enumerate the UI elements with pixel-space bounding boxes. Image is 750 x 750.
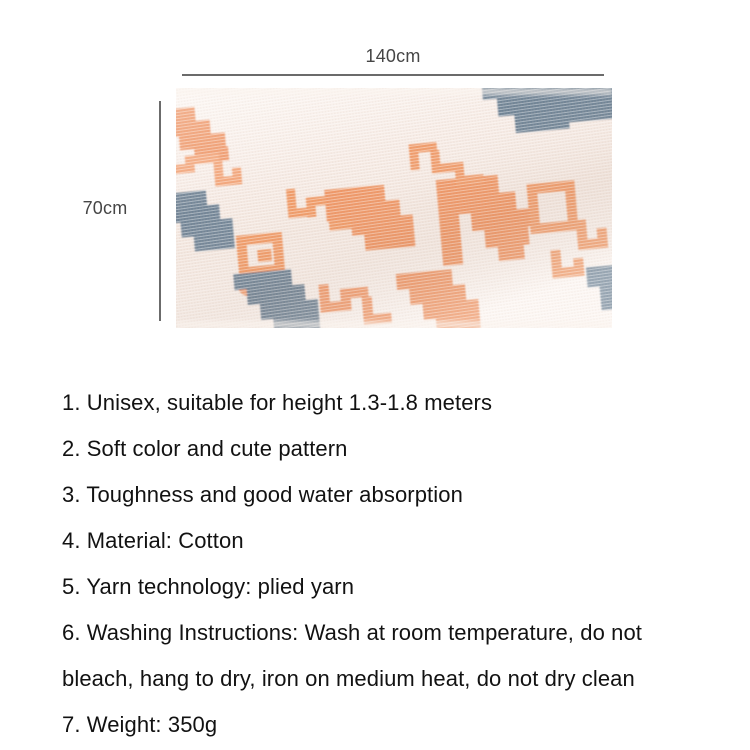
towel-pattern-illustration — [176, 88, 612, 328]
feature-line: 3. Toughness and good water absorption — [62, 472, 742, 518]
feature-line: 7. Weight: 350g — [62, 702, 742, 748]
feature-line-continuation: bleach, hang to dry, iron on medium heat… — [62, 656, 742, 702]
feature-line: 6. Washing Instructions: Wash at room te… — [62, 610, 742, 656]
feature-line: 2. Soft color and cute pattern — [62, 426, 742, 472]
height-dimension-label: 70cm — [60, 198, 150, 219]
width-dimension-line — [182, 74, 604, 76]
feature-line: 1. Unisex, suitable for height 1.3-1.8 m… — [62, 380, 742, 426]
product-feature-list: 1. Unisex, suitable for height 1.3-1.8 m… — [62, 380, 742, 748]
dimension-diagram: 140cm 70cm — [0, 0, 750, 360]
feature-line: 4. Material: Cotton — [62, 518, 742, 564]
feature-line: 5. Yarn technology: plied yarn — [62, 564, 742, 610]
width-dimension-label: 140cm — [182, 46, 604, 67]
height-dimension-line — [159, 101, 161, 321]
towel-product-photo — [176, 88, 612, 328]
